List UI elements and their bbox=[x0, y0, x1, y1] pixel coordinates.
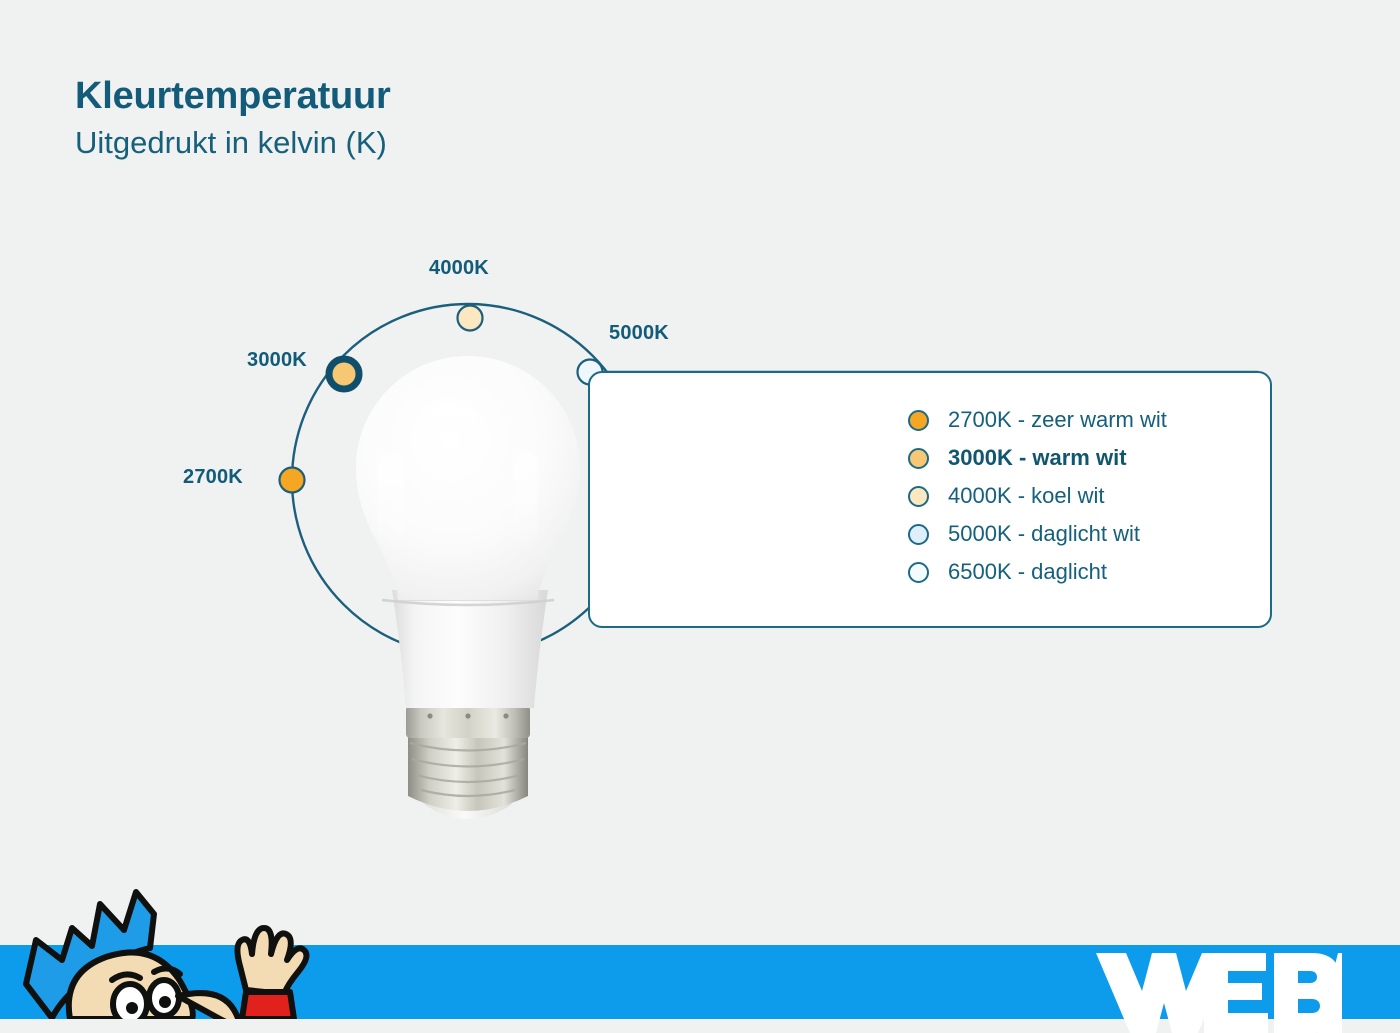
node-label-5000: 5000K bbox=[609, 322, 669, 345]
legend-item-2700[interactable]: 2700K - zeer warm wit bbox=[908, 401, 1167, 439]
legend-item-6500[interactable]: 6500K - daglicht bbox=[908, 553, 1167, 591]
node-label-2700: 2700K bbox=[183, 466, 243, 489]
node-3000-selected bbox=[329, 359, 359, 389]
legend-item-3000[interactable]: 3000K - warm wit bbox=[908, 439, 1167, 477]
legend-swatch-6500-icon bbox=[908, 562, 929, 583]
node-label-3000: 3000K bbox=[247, 349, 307, 372]
legend-swatch-3000-icon bbox=[908, 448, 929, 469]
legend-swatch-5000-icon bbox=[908, 524, 929, 545]
legend-item-5000[interactable]: 5000K - daglicht wit bbox=[908, 515, 1167, 553]
legend-item-4000[interactable]: 4000K - koel wit bbox=[908, 477, 1167, 515]
infographic-canvas: Kleurtemperatuur Uitgedrukt in kelvin (K… bbox=[0, 0, 1400, 1019]
node-2700 bbox=[280, 468, 305, 493]
node-label-4000: 4000K bbox=[429, 257, 489, 280]
legend-swatch-2700-icon bbox=[908, 410, 929, 431]
legend-label-2700: 2700K - zeer warm wit bbox=[948, 407, 1167, 433]
footer-bar bbox=[0, 945, 1400, 1019]
legend-callout-box: 2700K - zeer warm wit 3000K - warm wit 4… bbox=[588, 371, 1272, 628]
legend-list: 2700K - zeer warm wit 3000K - warm wit 4… bbox=[908, 401, 1167, 591]
legend-swatch-4000-icon bbox=[908, 486, 929, 507]
node-4000 bbox=[458, 306, 483, 331]
color-temperature-diagram: 2700K 3000K 4000K 5000K 6500K 2700K - ze… bbox=[0, 0, 1400, 945]
weba-logo bbox=[1092, 947, 1342, 1033]
legend-label-3000: 3000K - warm wit bbox=[948, 445, 1127, 471]
legend-label-6500: 6500K - daglicht bbox=[948, 559, 1107, 585]
legend-label-4000: 4000K - koel wit bbox=[948, 483, 1105, 509]
legend-label-5000: 5000K - daglicht wit bbox=[948, 521, 1140, 547]
